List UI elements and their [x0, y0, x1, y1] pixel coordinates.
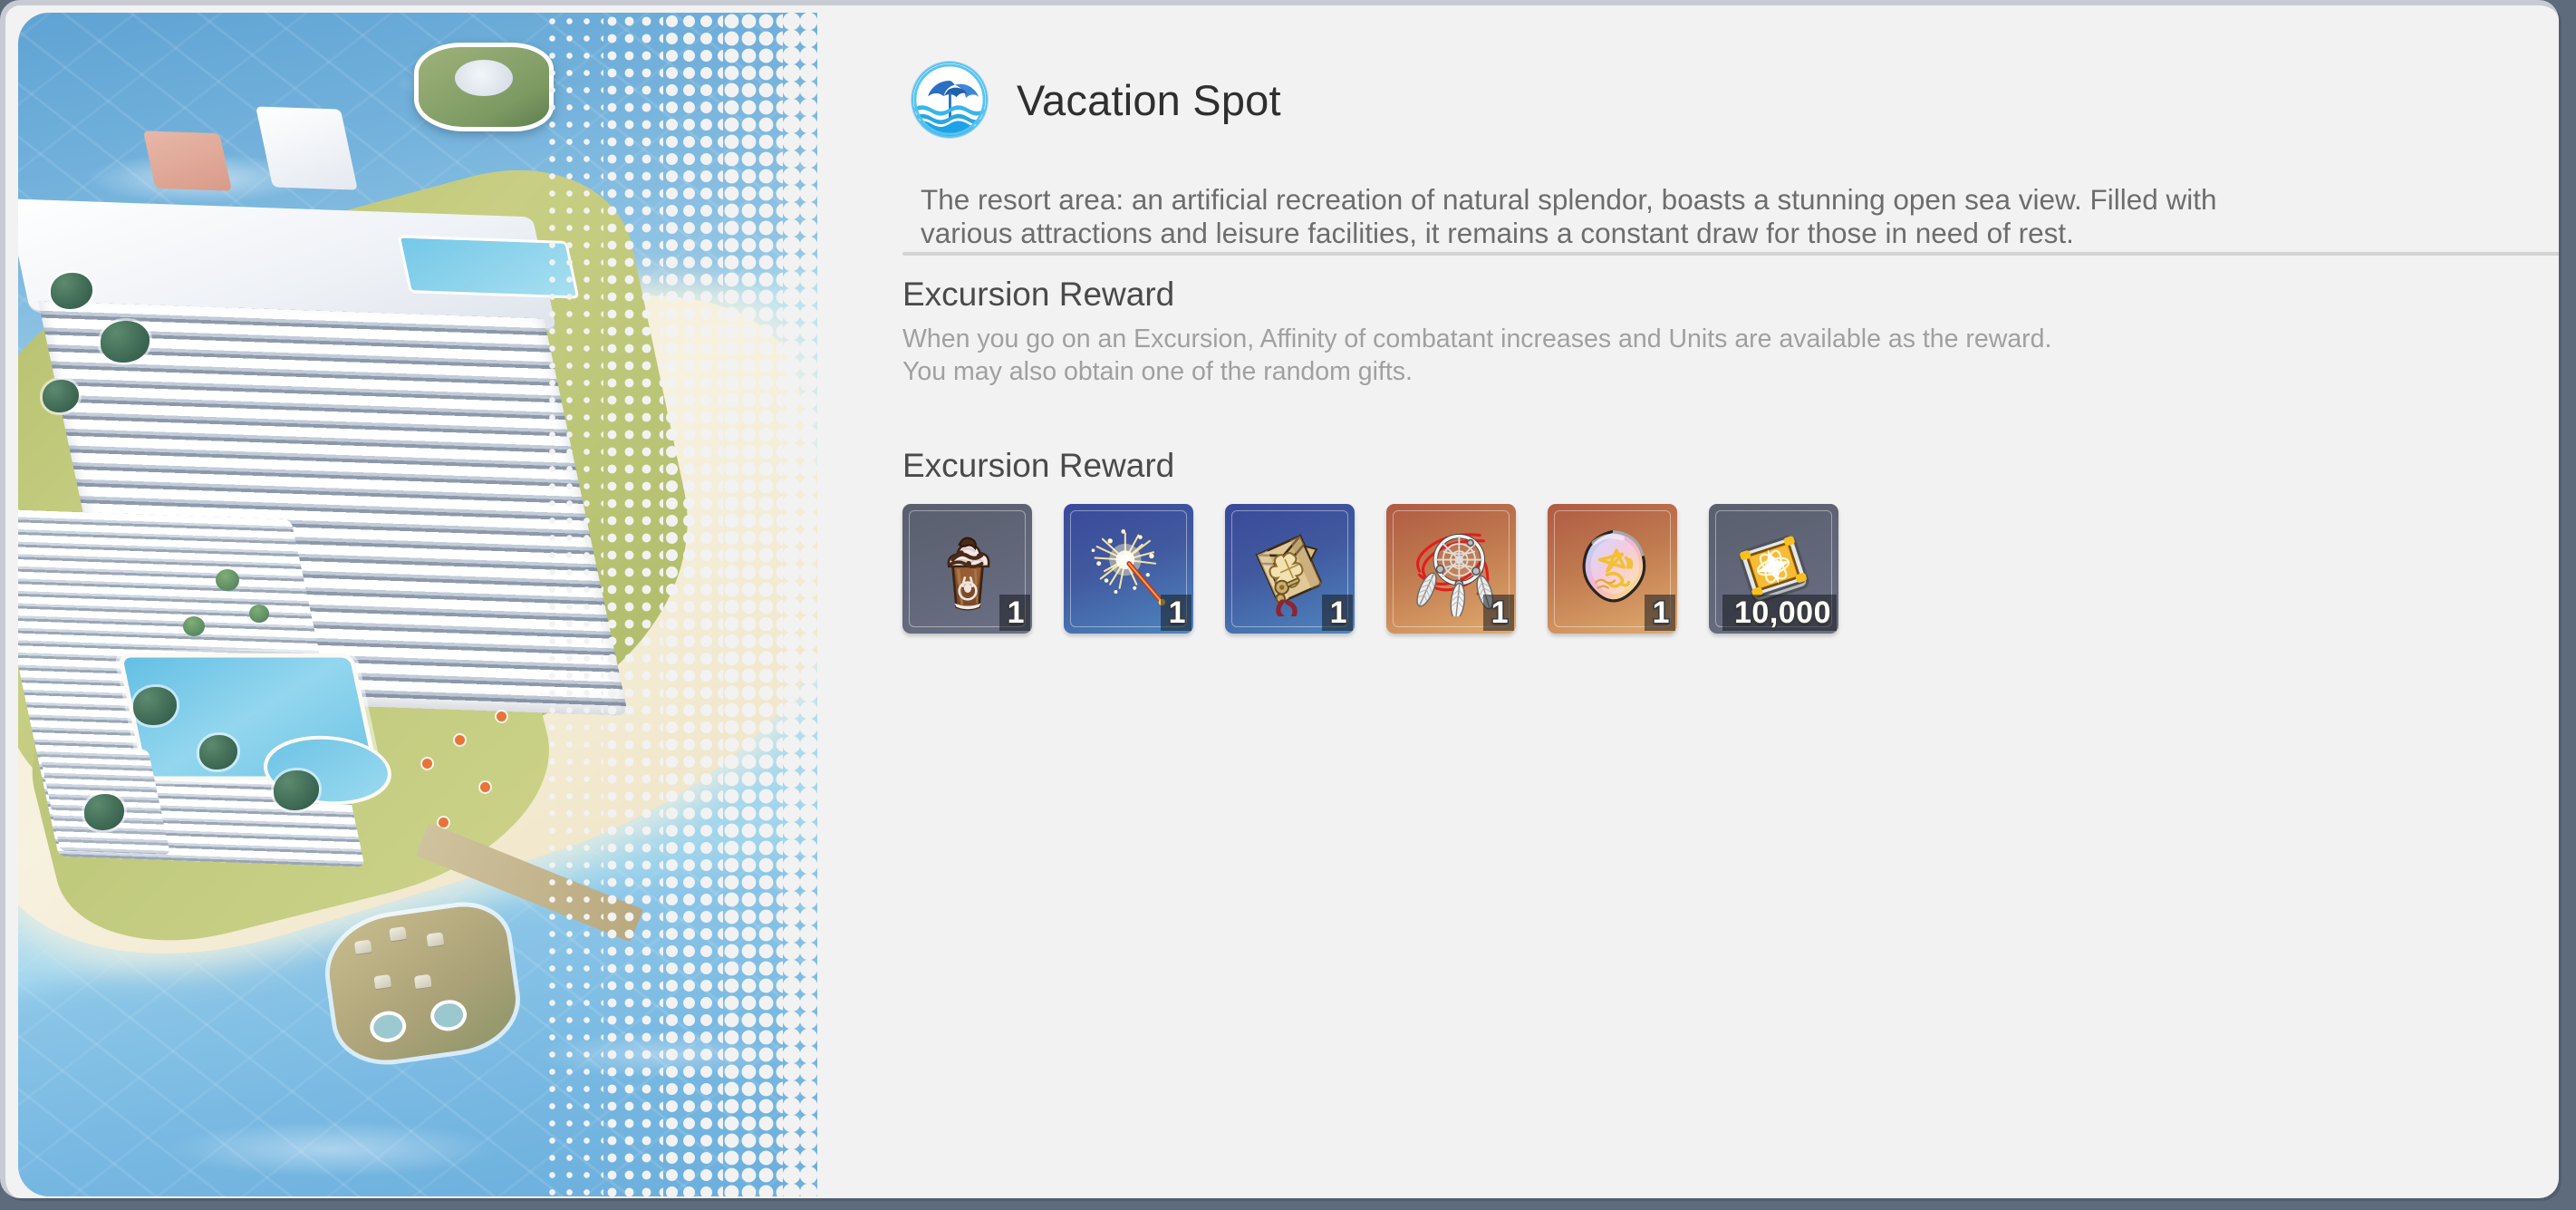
beach-parasol — [422, 759, 432, 769]
palm-tree — [249, 605, 269, 623]
palm-tree — [183, 616, 205, 636]
resort-location-artwork — [18, 13, 843, 1196]
reward-item-lucky-charm-omamori[interactable]: 1 — [1225, 504, 1355, 634]
excursion-reward-description: When you go on an Excursion, Affinity of… — [902, 323, 2289, 388]
bungalow — [426, 932, 444, 946]
reward-item-dreamcatcher[interactable]: 1 — [1386, 504, 1516, 634]
beach-parasol — [455, 735, 465, 745]
panel-frame: Vacation Spot The resort area: an artifi… — [0, 0, 2559, 1198]
annex-building — [256, 107, 358, 191]
title-row: Vacation Spot — [912, 62, 1281, 138]
reward-count-badge: 1 — [1645, 595, 1675, 631]
reward-item-chocolate-frappe-drink[interactable]: 1 — [902, 504, 1032, 634]
reward-count-badge: 1 — [1161, 595, 1192, 631]
beach-parasol — [497, 711, 507, 721]
rooftop-pool — [397, 236, 579, 299]
lagoon-pool — [429, 998, 468, 1033]
tree — [101, 321, 150, 363]
reward-count-badge: 1 — [1483, 595, 1514, 631]
excursion-reward-list-heading: Excursion Reward — [902, 447, 1174, 485]
reward-item-signed-guitar-pick[interactable]: 1 — [1548, 504, 1677, 634]
beach-parasol — [480, 782, 490, 792]
reward-item-exp-report-badge[interactable]: 10,000 — [1709, 504, 1838, 634]
red-roof-building — [143, 131, 232, 191]
beach-umbrella-icon — [912, 62, 988, 138]
bungalow — [414, 973, 432, 988]
tree — [84, 794, 124, 830]
lagoon-pool — [368, 1009, 408, 1044]
vacation-spot-info-panel: Vacation Spot The resort area: an artifi… — [0, 0, 2576, 1210]
info-content-column: Vacation Spot The resort area: an artifi… — [843, 5, 2559, 1198]
excursion-reward-list: 1 — [902, 504, 1838, 634]
page-title: Vacation Spot — [1017, 75, 1281, 125]
reward-count-badge: 1 — [999, 595, 1030, 631]
bungalow — [389, 925, 407, 940]
palm-tree — [216, 569, 239, 591]
offshore-island-north — [414, 43, 555, 131]
section-divider — [902, 252, 2559, 256]
reward-count-badge: 1 — [1322, 595, 1353, 631]
reward-count-badge: 10,000 — [1722, 595, 1837, 631]
location-description: The resort area: an artificial recreatio… — [921, 183, 2253, 250]
bungalow — [373, 973, 391, 988]
description-line: You may also obtain one of the random gi… — [902, 355, 2289, 388]
excursion-reward-heading: Excursion Reward — [902, 276, 1174, 314]
bungalow — [354, 939, 372, 953]
description-line: When you go on an Excursion, Affinity of… — [902, 323, 2289, 355]
reward-item-sparkler-firework[interactable]: 1 — [1064, 504, 1193, 634]
tree — [199, 735, 237, 770]
